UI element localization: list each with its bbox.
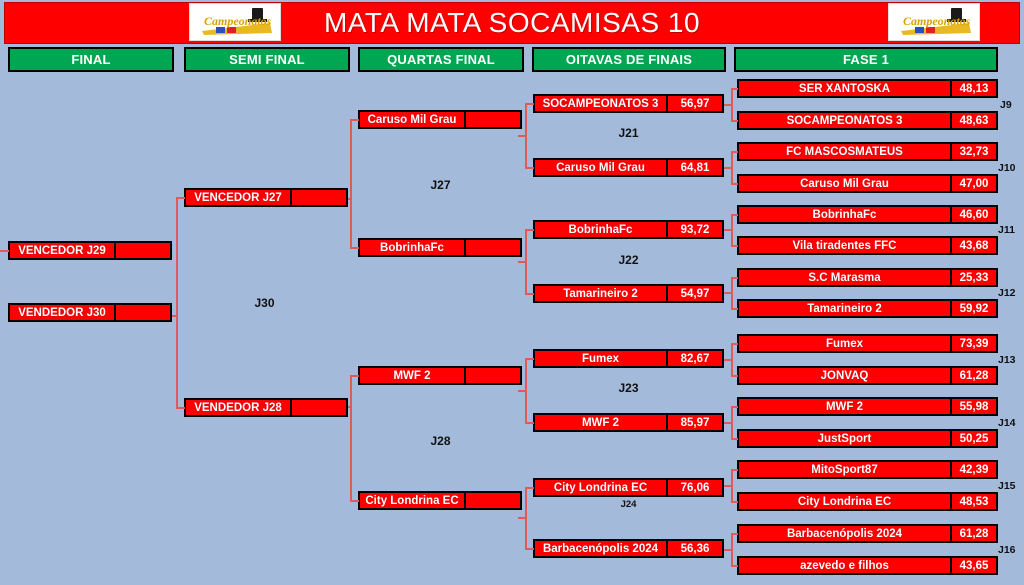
- connector: [731, 406, 738, 408]
- connector: [350, 375, 352, 500]
- round-header-label: FINAL: [71, 52, 110, 67]
- round-header-quartas: QUARTAS FINAL: [358, 47, 524, 72]
- page-title: MATA MATA SOCAMISAS 10: [324, 7, 700, 39]
- round-header-final: FINAL: [8, 47, 174, 72]
- svg-text:Campeonatos: Campeonatos: [903, 14, 971, 28]
- team-name: S.C Marasma: [739, 270, 950, 285]
- connector: [731, 277, 738, 279]
- connector: [176, 197, 178, 407]
- connector: [731, 120, 738, 122]
- table-row[interactable]: azevedo e filhos 43,65: [737, 556, 998, 575]
- connector: [350, 119, 352, 247]
- connector: [176, 407, 185, 409]
- table-row[interactable]: SOCAMPEONATOS 3 48,63: [737, 111, 998, 130]
- round-header-semifinal: SEMI FINAL: [184, 47, 350, 72]
- team-name: BobrinhaFc: [535, 222, 666, 237]
- team-name: Fumex: [535, 351, 666, 366]
- connector: [518, 135, 526, 137]
- connector: [350, 500, 359, 502]
- table-row[interactable]: Barbacenópolis 2024 61,28: [737, 524, 998, 543]
- connector: [525, 358, 534, 360]
- team-score: 48,53: [950, 494, 996, 509]
- table-row[interactable]: Barbacenópolis 2024 56,36: [533, 539, 724, 558]
- connector: [731, 343, 738, 345]
- table-row[interactable]: BobrinhaFc: [358, 238, 522, 257]
- connector: [731, 245, 738, 247]
- round-header-label: SEMI FINAL: [229, 52, 305, 67]
- team-name: SOCAMPEONATOS 3: [535, 96, 666, 111]
- team-score: 93,72: [666, 222, 722, 237]
- table-row[interactable]: Caruso Mil Grau 64,81: [533, 158, 724, 177]
- table-row[interactable]: Fumex 82,67: [533, 349, 724, 368]
- team-score: [464, 368, 520, 383]
- round-header-fase1: FASE 1: [734, 47, 998, 72]
- logo-right: Campeonatos: [888, 3, 980, 41]
- table-row[interactable]: Caruso Mil Grau 47,00: [737, 174, 998, 193]
- team-name: MWF 2: [535, 415, 666, 430]
- team-score: [464, 112, 520, 127]
- team-name: City Londrina EC: [739, 494, 950, 509]
- connector: [731, 214, 738, 216]
- team-score: 61,28: [950, 368, 996, 383]
- match-code-j28: J28: [388, 434, 493, 448]
- match-code-j14: J14: [998, 417, 1016, 429]
- connector: [350, 119, 359, 121]
- connector: [724, 359, 732, 361]
- sa-campeonatos-logo-icon: Campeonatos: [192, 5, 278, 39]
- connector: [0, 250, 9, 252]
- table-row[interactable]: JONVAQ 61,28: [737, 366, 998, 385]
- table-row[interactable]: Fumex 73,39: [737, 334, 998, 353]
- team-score: [290, 190, 346, 205]
- team-score: 85,97: [666, 415, 722, 430]
- table-row[interactable]: City Londrina EC: [358, 491, 522, 510]
- connector: [525, 422, 534, 424]
- svg-text:Campeonatos: Campeonatos: [204, 14, 272, 28]
- table-row[interactable]: BobrinhaFc 46,60: [737, 205, 998, 224]
- connector: [350, 375, 359, 377]
- round-header-label: FASE 1: [843, 52, 889, 67]
- team-score: 50,25: [950, 431, 996, 446]
- team-score: [114, 243, 170, 258]
- team-score: 47,00: [950, 176, 996, 191]
- team-name: VENDEDOR J30: [10, 305, 114, 320]
- title-bar: MATA MATA SOCAMISAS 10: [4, 2, 1020, 44]
- team-score: 55,98: [950, 399, 996, 414]
- team-score: 43,68: [950, 238, 996, 253]
- match-code-j27: J27: [388, 178, 493, 192]
- connector: [731, 565, 738, 567]
- team-name: Barbacenópolis 2024: [739, 526, 950, 541]
- connector: [731, 308, 738, 310]
- team-score: 61,28: [950, 526, 996, 541]
- connector: [724, 485, 732, 487]
- match-code-j12: J12: [998, 287, 1016, 299]
- connector: [350, 247, 359, 249]
- table-row[interactable]: Tamarineiro 2 54,97: [533, 284, 724, 303]
- team-name: Vila tiradentes FFC: [739, 238, 950, 253]
- team-name: Tamarineiro 2: [535, 286, 666, 301]
- team-score: 64,81: [666, 160, 722, 175]
- team-score: 42,39: [950, 462, 996, 477]
- round-header-oitavas: OITAVAS DE FINAIS: [532, 47, 726, 72]
- team-score: 32,73: [950, 144, 996, 159]
- team-score: [464, 240, 520, 255]
- table-row[interactable]: MWF 2 85,97: [533, 413, 724, 432]
- team-name: JONVAQ: [739, 368, 950, 383]
- connector: [525, 548, 534, 550]
- table-row[interactable]: City Londrina EC 48,53: [737, 492, 998, 511]
- match-code-j21: J21: [576, 126, 681, 140]
- table-row[interactable]: VENCEDOR J27: [184, 188, 348, 207]
- connector: [518, 390, 526, 392]
- table-row[interactable]: City Londrina EC 76,06: [533, 478, 724, 497]
- table-row[interactable]: Caruso Mil Grau: [358, 110, 522, 129]
- connector: [731, 469, 738, 471]
- team-score: 56,97: [666, 96, 722, 111]
- match-code-j9: J9: [1000, 99, 1012, 111]
- connector: [731, 438, 738, 440]
- team-name: Tamarineiro 2: [739, 301, 950, 316]
- team-score: 54,97: [666, 286, 722, 301]
- table-row[interactable]: BobrinhaFc 93,72: [533, 220, 724, 239]
- team-name: BobrinhaFc: [739, 207, 950, 222]
- connector: [525, 487, 534, 489]
- connector: [518, 261, 526, 263]
- connector: [518, 517, 526, 519]
- bracket-page: MATA MATA SOCAMISAS 10 Campeonatos Campe…: [0, 0, 1024, 585]
- team-name: MWF 2: [360, 368, 464, 383]
- connector: [731, 501, 738, 503]
- team-name: MitoSport87: [739, 462, 950, 477]
- connector: [724, 167, 732, 169]
- connector: [724, 422, 732, 424]
- connector: [176, 197, 185, 199]
- team-name: Caruso Mil Grau: [739, 176, 950, 191]
- team-name: VENCEDOR J29: [10, 243, 114, 258]
- table-row[interactable]: Tamarineiro 2 59,92: [737, 299, 998, 318]
- team-name: Barbacenópolis 2024: [535, 541, 666, 556]
- match-code-j23: J23: [576, 381, 681, 395]
- table-row[interactable]: VENDEDOR J30: [8, 303, 172, 322]
- team-name: VENDEDOR J28: [186, 400, 290, 415]
- connector: [525, 167, 534, 169]
- team-score: [290, 400, 346, 415]
- sa-campeonatos-logo-icon: Campeonatos: [891, 5, 977, 39]
- connector: [731, 375, 738, 377]
- team-score: [114, 305, 170, 320]
- logo-left: Campeonatos: [189, 3, 281, 41]
- match-code-j30: J30: [212, 296, 317, 310]
- connector: [731, 183, 738, 185]
- table-row[interactable]: VENDEDOR J28: [184, 398, 348, 417]
- team-name: MWF 2: [739, 399, 950, 414]
- connector: [724, 104, 732, 106]
- match-code-j16: J16: [998, 544, 1016, 556]
- match-code-j11: J11: [998, 224, 1015, 236]
- team-score: [464, 493, 520, 508]
- connector: [724, 292, 732, 294]
- table-row[interactable]: SOCAMPEONATOS 3 56,97: [533, 94, 724, 113]
- team-score: 76,06: [666, 480, 722, 495]
- table-row[interactable]: SER XANTOSKA 48,13: [737, 79, 998, 98]
- team-name: Caruso Mil Grau: [535, 160, 666, 175]
- match-code-j10: J10: [998, 162, 1016, 174]
- table-row[interactable]: JustSport 50,25: [737, 429, 998, 448]
- team-score: 59,92: [950, 301, 996, 316]
- team-name: FC MASCOSMATEUS: [739, 144, 950, 159]
- team-score: 82,67: [666, 351, 722, 366]
- table-row[interactable]: MWF 2: [358, 366, 522, 385]
- team-name: SER XANTOSKA: [739, 81, 950, 96]
- table-row[interactable]: MitoSport87 42,39: [737, 460, 998, 479]
- connector: [724, 549, 732, 551]
- team-score: 73,39: [950, 336, 996, 351]
- team-score: 56,36: [666, 541, 722, 556]
- table-row[interactable]: FC MASCOSMATEUS 32,73: [737, 142, 998, 161]
- table-row[interactable]: S.C Marasma 25,33: [737, 268, 998, 287]
- team-name: Caruso Mil Grau: [360, 112, 464, 127]
- connector: [731, 533, 738, 535]
- table-row[interactable]: VENCEDOR J29: [8, 241, 172, 260]
- team-name: City Londrina EC: [360, 493, 464, 508]
- team-score: 43,65: [950, 558, 996, 573]
- connector: [731, 151, 738, 153]
- team-score: 25,33: [950, 270, 996, 285]
- team-score: 48,63: [950, 113, 996, 128]
- connector: [724, 229, 732, 231]
- table-row[interactable]: MWF 2 55,98: [737, 397, 998, 416]
- team-name: Fumex: [739, 336, 950, 351]
- round-header-label: QUARTAS FINAL: [387, 52, 495, 67]
- connector: [525, 103, 534, 105]
- table-row[interactable]: Vila tiradentes FFC 43,68: [737, 236, 998, 255]
- match-code-j22: J22: [576, 253, 681, 267]
- connector: [525, 229, 534, 231]
- team-name: VENCEDOR J27: [186, 190, 290, 205]
- round-header-label: OITAVAS DE FINAIS: [566, 52, 692, 67]
- team-name: azevedo e filhos: [739, 558, 950, 573]
- team-name: JustSport: [739, 431, 950, 446]
- team-score: 48,13: [950, 81, 996, 96]
- team-score: 46,60: [950, 207, 996, 222]
- match-code-j24: J24: [576, 499, 681, 510]
- match-code-j15: J15: [998, 480, 1016, 492]
- connector: [731, 88, 738, 90]
- team-name: City Londrina EC: [535, 480, 666, 495]
- team-name: BobrinhaFc: [360, 240, 464, 255]
- team-name: SOCAMPEONATOS 3: [739, 113, 950, 128]
- connector: [525, 293, 534, 295]
- match-code-j13: J13: [998, 354, 1016, 366]
